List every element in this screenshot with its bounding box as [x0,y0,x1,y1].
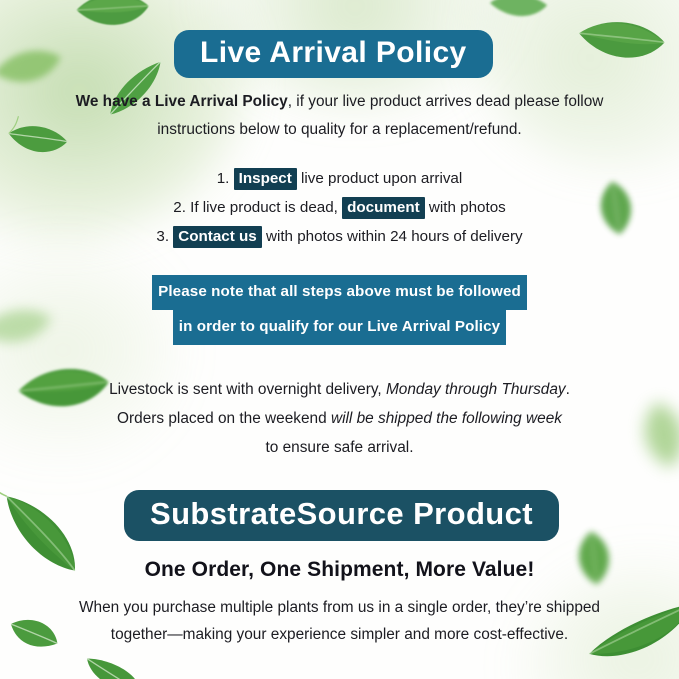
step-number: 1. [217,170,230,187]
shipping-line1-a: Livestock is sent with overnight deliver… [109,381,386,398]
intro-rest: , if your live product arrives dead plea… [288,93,604,110]
step-number: 3. [156,228,169,245]
step-highlight-inspect: Inspect [234,168,297,190]
step-text: live product upon arrival [297,170,462,187]
live-arrival-policy-banner: Live Arrival Policy [174,30,493,78]
step-highlight-contact-us: Contact us [173,226,261,248]
shipping-line2-italic: will be shipped the following week [331,410,562,427]
list-item: 3. Contact us with photos within 24 hour… [0,222,679,251]
product-paragraph: When you purchase multiple plants from u… [0,594,679,648]
policy-notice-block: Please note that all steps above must be… [0,275,679,345]
step-text: with photos within 24 hours of delivery [262,228,523,245]
shipping-line1-b: . [566,381,570,398]
intro-paragraph: We have a Live Arrival Policy, if your l… [0,88,679,144]
steps-list: 1. Inspect live product upon arrival 2. … [0,164,679,251]
shipping-line2-a: Orders placed on the weekend [117,410,331,427]
outro-line1: When you purchase multiple plants from u… [79,599,600,616]
notice-line-1: Please note that all steps above must be… [152,275,527,310]
outro-line2: together—making your experience simpler … [111,626,568,643]
product-subheading: One Order, One Shipment, More Value! [0,558,679,582]
step-text: with photos [425,199,506,216]
content-layer: Live Arrival Policy We have a Live Arriv… [0,0,679,679]
step-number: 2. [173,199,186,216]
shipping-line3: to ensure safe arrival. [266,439,414,456]
notice-line-2: in order to qualify for our Live Arrival… [173,310,506,345]
step-highlight-document: document [342,197,425,219]
substrate-source-product-banner: SubstrateSource Product [124,490,559,541]
shipping-line1-italic: Monday through Thursday [386,381,566,398]
list-item: 1. Inspect live product upon arrival [0,164,679,193]
shipping-paragraph: Livestock is sent with overnight deliver… [0,375,679,462]
intro-lead: We have a Live Arrival Policy [76,93,288,110]
intro-line2: instructions below to quality for a repl… [157,121,521,138]
step-text-before: If live product is dead, [186,199,342,216]
live-arrival-policy-infographic: Live Arrival Policy We have a Live Arriv… [0,0,679,679]
list-item: 2. If live product is dead, document wit… [0,193,679,222]
